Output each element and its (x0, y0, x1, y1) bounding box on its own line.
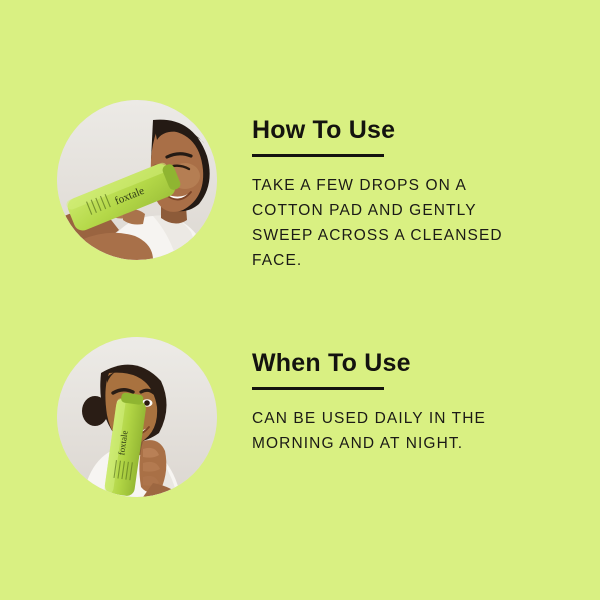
photo-how-to-use: foxtale (57, 100, 217, 260)
heading-how-to-use: How To Use (252, 117, 552, 145)
heading-when-to-use: When To Use (252, 350, 552, 378)
body-how-to-use: TAKE A FEW DROPS ON A COTTON PAD AND GEN… (252, 157, 532, 273)
body-when-to-use: CAN BE USED DAILY IN THE MORNING AND AT … (252, 390, 532, 456)
photo-how-to-use-illustration: foxtale (57, 100, 217, 260)
text-column-how-to-use: How To Use TAKE A FEW DROPS ON A COTTON … (252, 117, 552, 273)
photo-when-to-use: foxtale (57, 337, 217, 497)
photo-when-to-use-illustration: foxtale (57, 337, 217, 497)
text-column-when-to-use: When To Use CAN BE USED DAILY IN THE MOR… (252, 350, 552, 456)
promo-card: foxtale How To Use TAKE A FEW DROPS ON A… (0, 0, 600, 600)
